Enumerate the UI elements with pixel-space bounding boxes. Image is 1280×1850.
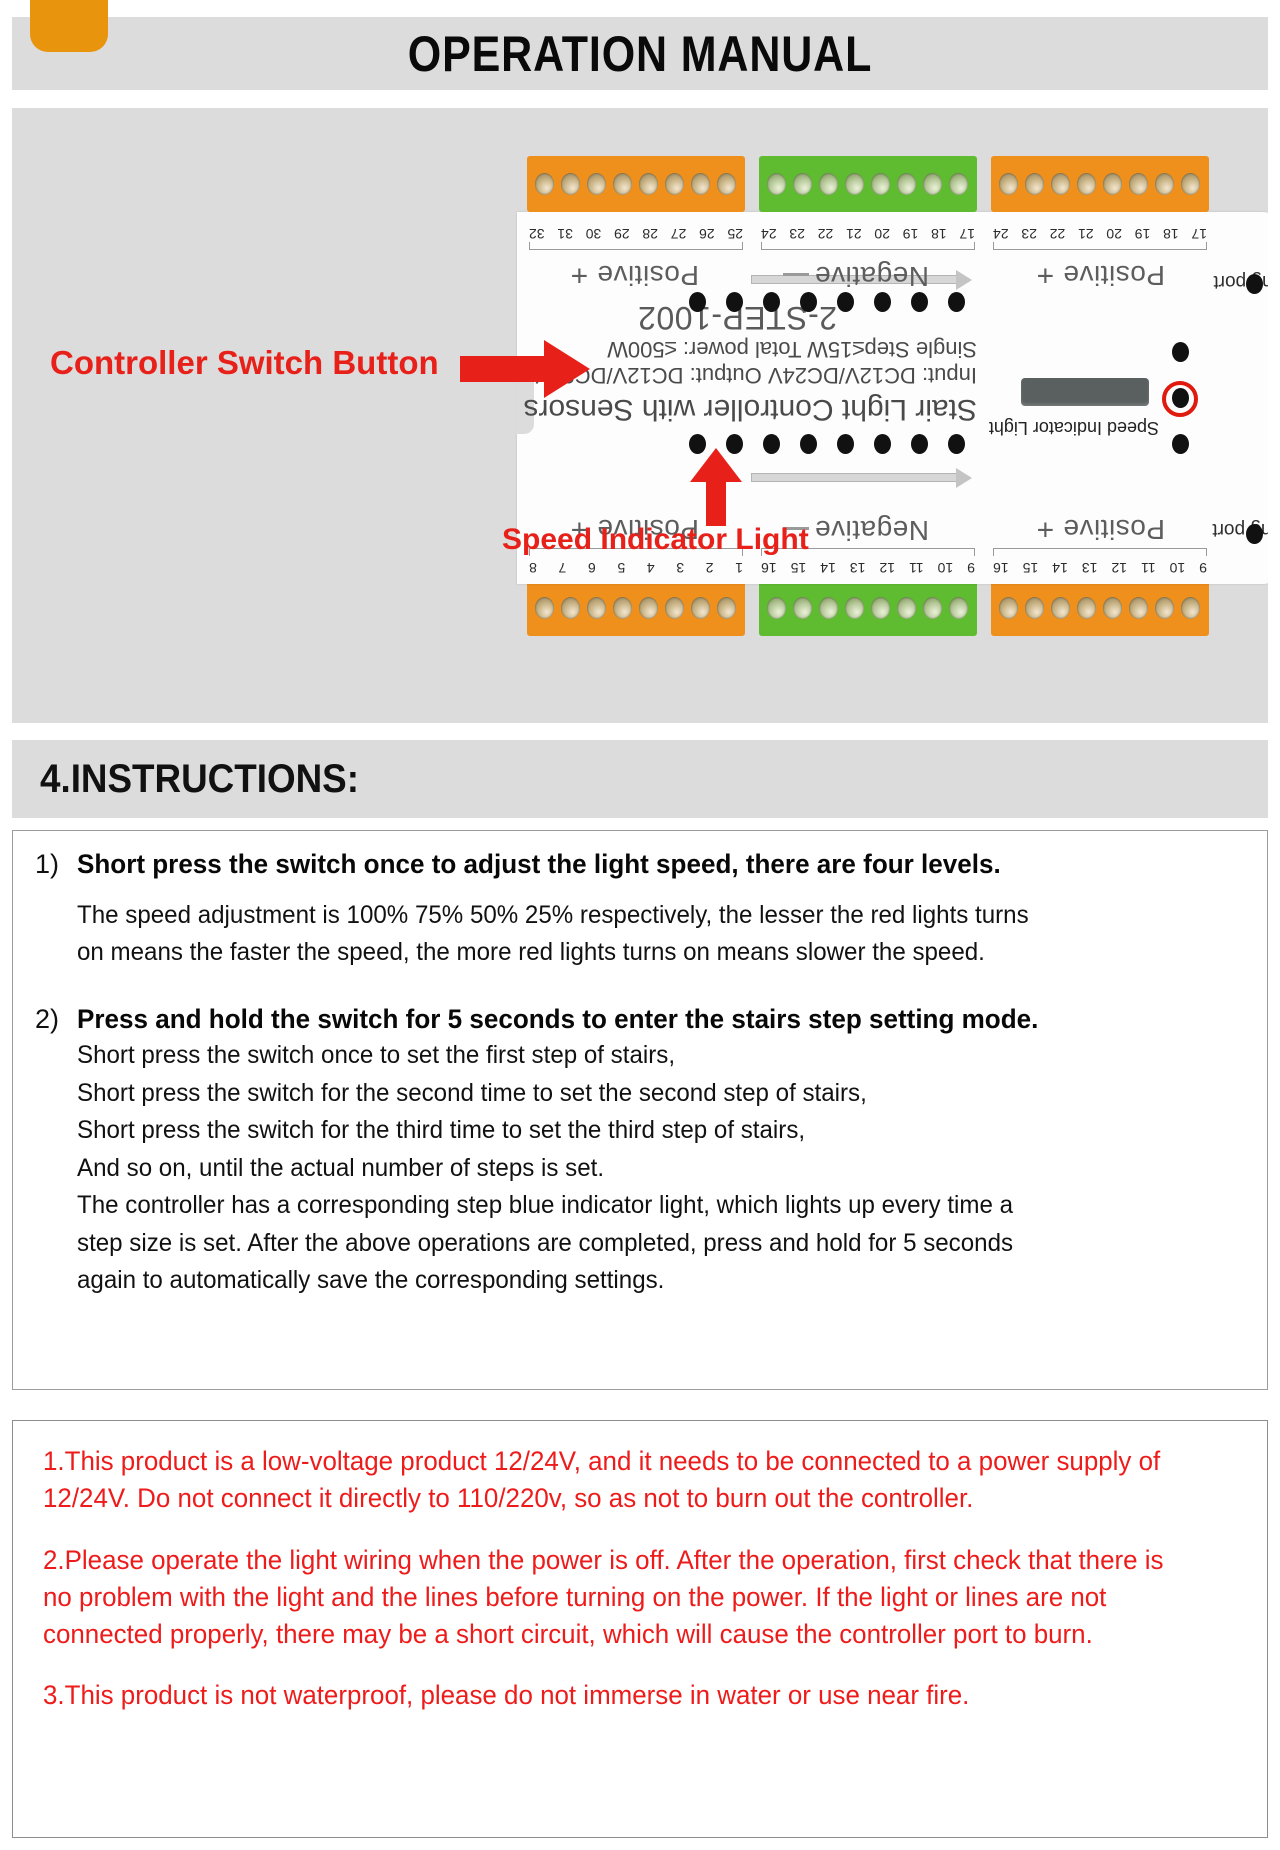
instruction-item-2: 2) Press and hold the switch for 5 secon… [35,1002,1245,1300]
controller-board-rotated: 9 10 11 12 13 14 15 16 9 10 11 12 [517,156,1268,636]
direction-arrow-head [956,468,972,488]
screw-icon [718,597,737,619]
instruction-lead: Short press the switch once to adjust th… [77,847,1204,883]
instruction-subline: Short press the switch for the third tim… [77,1112,1204,1150]
screw-icon [820,597,839,619]
screw-icon [846,173,865,195]
board-spec-io: Input: DC12V/DC24V Output: DC12V/DC24V [536,362,977,388]
terminal-block-positive-a [991,580,1209,636]
instructions-heading: 4.INSTRUCTIONS: [40,757,359,802]
screw-icon [588,597,607,619]
screw-icon [562,173,581,195]
screw-icon [1104,597,1123,619]
warning-paragraph-3: 3.This product is not waterproof, please… [43,1677,1189,1714]
step-led [911,434,928,454]
instruction-subline: And so on, until the actual number of st… [77,1150,1204,1188]
annotation-controller-switch-button: Controller Switch Button [50,344,439,382]
instructions-body: 1) Short press the switch once to adjust… [12,830,1268,1390]
minus-icon [783,273,809,276]
instruction-subline: step size is set. After the above operat… [77,1225,1204,1263]
screw-icon [924,597,943,619]
terminal-bracket [993,242,1207,250]
terminal-numbers-lower-2: 17 18 19 20 21 22 23 24 [761,226,975,242]
screw-icon [924,173,943,195]
product-photo-panel: 9 10 11 12 13 14 15 16 9 10 11 12 [12,108,1268,723]
screw-icon [1026,173,1045,195]
speed-led-1 [1172,434,1189,454]
terminal-numbers-lower-3: 25 26 27 28 29 30 31 32 [529,226,743,242]
screw-icon [1130,173,1149,195]
screw-icon [898,173,917,195]
screw-icon [692,597,711,619]
instructions-heading-band: 4.INSTRUCTIONS: [12,740,1268,818]
terminal-block-positive-d [527,156,745,212]
screw-icon [1026,597,1045,619]
step-led [763,292,780,312]
label-negative-lower: Negative [783,260,929,292]
screw-icon [1182,173,1201,195]
direction-arrow-head-2 [956,270,972,290]
screw-icon [1182,597,1201,619]
terminal-numbers-upper-2: 9 10 11 12 13 14 15 16 [761,560,975,576]
terminal-numbers-upper-1: 9 10 11 12 13 14 15 16 [993,560,1207,576]
screw-icon [718,173,737,195]
screw-icon [536,597,555,619]
step-led [837,292,854,312]
warning-paragraph-1: 1.This product is a low-voltage product … [43,1443,1189,1518]
page-title: OPERATION MANUAL [100,17,1180,90]
instruction-subline: on means the faster the speed, the more … [77,934,1204,972]
screw-icon [640,173,659,195]
header-band: OPERATION MANUAL [12,17,1268,90]
screw-icon [666,597,685,619]
screw-icon [1104,173,1123,195]
screw-icon [1000,173,1019,195]
screw-icon [872,173,891,195]
sensor-led-b [1246,524,1263,544]
screw-icon [614,173,633,195]
screw-icon [1130,597,1149,619]
step-indicator-led-row-lower [689,292,965,312]
terminal-block-positive-b [527,580,745,636]
step-led [837,434,854,454]
terminal-strip-upper [509,580,1209,636]
instruction-lead: Press and hold the switch for 5 seconds … [77,1002,1204,1038]
board-title-line: Stair Light Controller with Sensors [523,392,977,426]
screw-icon [898,597,917,619]
step-led [948,434,965,454]
screw-icon [1078,597,1097,619]
terminal-bracket [529,242,743,250]
screw-icon [536,173,555,195]
instruction-subline: again to automatically save the correspo… [77,1262,1204,1300]
screw-icon [1000,597,1019,619]
instruction-number: 2) [35,1002,77,1300]
step-led [874,434,891,454]
terminal-block-negative-c [759,156,977,212]
step-led [800,292,817,312]
screw-icon [1052,597,1071,619]
instruction-subline: Short press the switch for the second ti… [77,1075,1204,1113]
terminal-bracket [761,242,975,250]
arrow-pointing-to-speed-light-icon [690,448,742,526]
step-led [800,434,817,454]
direction-arrow-line [751,473,959,482]
step-led [726,292,743,312]
caption-speed-indicator-light: Speed Indicator Light [989,417,1159,438]
step-led [763,434,780,454]
warnings-box: 1.This product is a low-voltage product … [12,1420,1268,1838]
screw-icon [950,597,969,619]
operation-manual-page: OPERATION MANUAL [0,0,1280,1850]
controller-board-image: 9 10 11 12 13 14 15 16 9 10 11 12 [517,156,1268,636]
terminal-numbers-lower-1: 17 18 19 20 21 22 23 24 [993,226,1207,242]
instruction-subline: The speed adjustment is 100% 75% 50% 25%… [77,897,1204,935]
annotation-speed-indicator-light: Speed Indicator Light [502,523,809,557]
screw-icon [1078,173,1097,195]
terminal-numbers-upper-3: 1 2 3 4 5 6 7 8 [529,560,743,576]
step-led [948,292,965,312]
terminal-block-positive-c [991,156,1209,212]
controller-switch-button[interactable] [1172,342,1189,362]
sensor-led-a [1246,274,1263,294]
terminal-bracket [993,548,1207,556]
plus-icon: + [1036,513,1063,546]
screw-icon [1156,597,1175,619]
screw-icon [794,597,813,619]
screw-icon [562,597,581,619]
plus-icon: + [1036,259,1063,292]
screw-icon [768,173,787,195]
warning-paragraph-2: 2.Please operate the light wiring when t… [43,1542,1189,1654]
screw-icon [846,597,865,619]
instruction-number: 1) [35,847,77,972]
instruction-subline: The controller has a corresponding step … [77,1187,1204,1225]
arrow-pointing-to-switch-icon [460,340,590,398]
screw-icon [768,597,787,619]
screw-icon [640,597,659,619]
label-positive-lower: Positive + [1036,258,1165,292]
step-led [911,292,928,312]
screw-icon [1156,173,1175,195]
step-led [874,292,891,312]
screw-icon [820,173,839,195]
screw-icon [950,173,969,195]
instruction-item-1: 1) Short press the switch once to adjust… [35,847,1245,972]
screw-icon [794,173,813,195]
plus-icon: + [570,259,597,292]
board-spec-power: Single Step≤15W Total power: ≤500W [607,336,977,362]
label-positive-lower-2: Positive + [570,258,699,292]
screw-icon [666,173,685,195]
terminal-block-negative-a [759,580,977,636]
spacer [35,976,1245,1002]
screw-icon [614,597,633,619]
screw-icon [1052,173,1071,195]
label-positive-upper: Positive + [1036,512,1165,546]
step-led [689,292,706,312]
screw-icon [692,173,711,195]
orange-accent-tab [30,0,108,52]
onboard-chip [1021,378,1149,406]
switch-highlight-ring [1162,381,1198,417]
screw-icon [872,597,891,619]
instruction-subline: Short press the switch once to set the f… [77,1037,1204,1075]
terminal-strip-lower [509,156,1209,212]
screw-icon [588,173,607,195]
